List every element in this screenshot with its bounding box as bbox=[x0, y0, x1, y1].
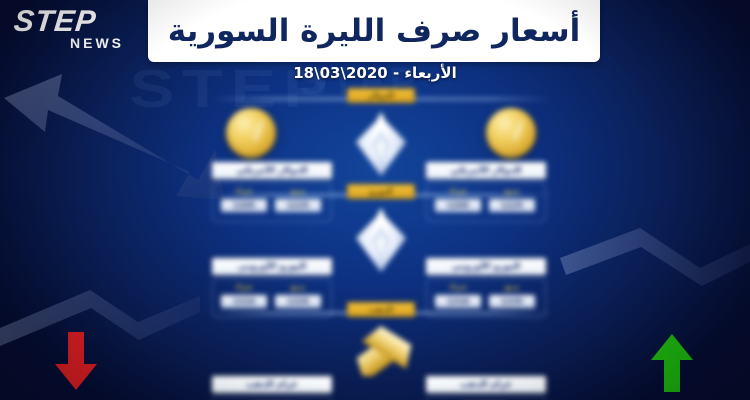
rate-card-title: اليورو الأوروبي bbox=[426, 258, 546, 275]
section-badge: اليورو bbox=[347, 184, 415, 199]
rate-value-column: مبيع1335 bbox=[489, 283, 535, 308]
rate-card[interactable]: غرام الذهبليرة bbox=[212, 376, 336, 400]
rate-card-title: غرام الذهب bbox=[212, 376, 332, 393]
gold-bars-icon bbox=[342, 322, 422, 376]
rate-value-chip: 1310 bbox=[221, 295, 267, 308]
arrow-down-red-icon bbox=[52, 330, 100, 392]
rate-card-body: شراء1205مبيع1225 bbox=[212, 182, 332, 222]
rate-card[interactable]: الدولار الأمريكيشراء1205مبيع1225 bbox=[212, 162, 336, 222]
gold-coin-icon bbox=[226, 108, 276, 158]
rate-value-column: مبيع1225 bbox=[275, 187, 321, 212]
rate-card-title: الدولار الأمريكي bbox=[426, 162, 546, 179]
rate-card[interactable]: غرام الذهبليرة bbox=[426, 376, 550, 400]
step-news-logo[interactable]: STEP NEWS bbox=[14, 8, 126, 54]
rate-card-title: غرام الذهب bbox=[426, 376, 546, 393]
rate-card-title: اليورو الأوروبي bbox=[212, 258, 332, 275]
poster-canvas: STEP STEP STEP NEWS أسعار صرف اللي bbox=[0, 0, 750, 400]
rate-value-label: شراء bbox=[435, 283, 481, 292]
date-label: الأربعاء - 2020\03\18 bbox=[0, 64, 750, 82]
arrow-up-green-icon bbox=[648, 332, 696, 394]
rate-value-column: شراء1205 bbox=[435, 187, 481, 212]
title-banner: أسعار صرف الليرة السورية bbox=[148, 0, 600, 62]
rate-value-chip: 1335 bbox=[275, 295, 321, 308]
diamond-emblem-icon bbox=[352, 110, 410, 180]
rate-value-chip: 1225 bbox=[489, 199, 535, 212]
logo-secondary-text: NEWS bbox=[14, 36, 126, 51]
rate-value-chip: 1310 bbox=[435, 295, 481, 308]
trend-arrow-up-left-shape bbox=[4, 74, 225, 200]
rate-value-column: شراء1205 bbox=[221, 187, 267, 212]
page-title: أسعار صرف الليرة السورية bbox=[168, 13, 580, 49]
rate-value-column: مبيع1225 bbox=[489, 187, 535, 212]
rate-card-body: ليرة bbox=[426, 396, 546, 400]
rate-card[interactable]: اليورو الأوروبيشراء1310مبيع1335 bbox=[426, 258, 550, 318]
rate-value-chip: 1205 bbox=[435, 199, 481, 212]
rate-card-title: الدولار الأمريكي bbox=[212, 162, 332, 179]
rate-value-chip: 1205 bbox=[221, 199, 267, 212]
rate-value-chip: 1225 bbox=[275, 199, 321, 212]
section-badge: الدولار bbox=[347, 88, 415, 103]
rate-value-column: مبيع1335 bbox=[275, 283, 321, 308]
rates-content-panel: الدولار الدولار الأمريكيشراء1205مبيع1225… bbox=[196, 86, 566, 400]
rate-value-column: شراء1310 bbox=[435, 283, 481, 308]
rate-card[interactable]: اليورو الأوروبيشراء1310مبيع1335 bbox=[212, 258, 336, 318]
rate-value-label: شراء bbox=[221, 283, 267, 292]
diamond-emblem-icon bbox=[352, 206, 410, 276]
rate-card-body: شراء1205مبيع1225 bbox=[426, 182, 546, 222]
section-badge: الذهب bbox=[347, 302, 415, 317]
rate-value-label: مبيع bbox=[489, 283, 535, 292]
rate-value-chip: 1335 bbox=[489, 295, 535, 308]
logo-primary-text: STEP bbox=[13, 8, 128, 36]
rate-value-column: شراء1310 bbox=[221, 283, 267, 308]
gold-coin-icon bbox=[486, 108, 536, 158]
rate-value-label: مبيع bbox=[275, 283, 321, 292]
rate-card-body: ليرة bbox=[212, 396, 332, 400]
rate-card[interactable]: الدولار الأمريكيشراء1205مبيع1225 bbox=[426, 162, 550, 222]
